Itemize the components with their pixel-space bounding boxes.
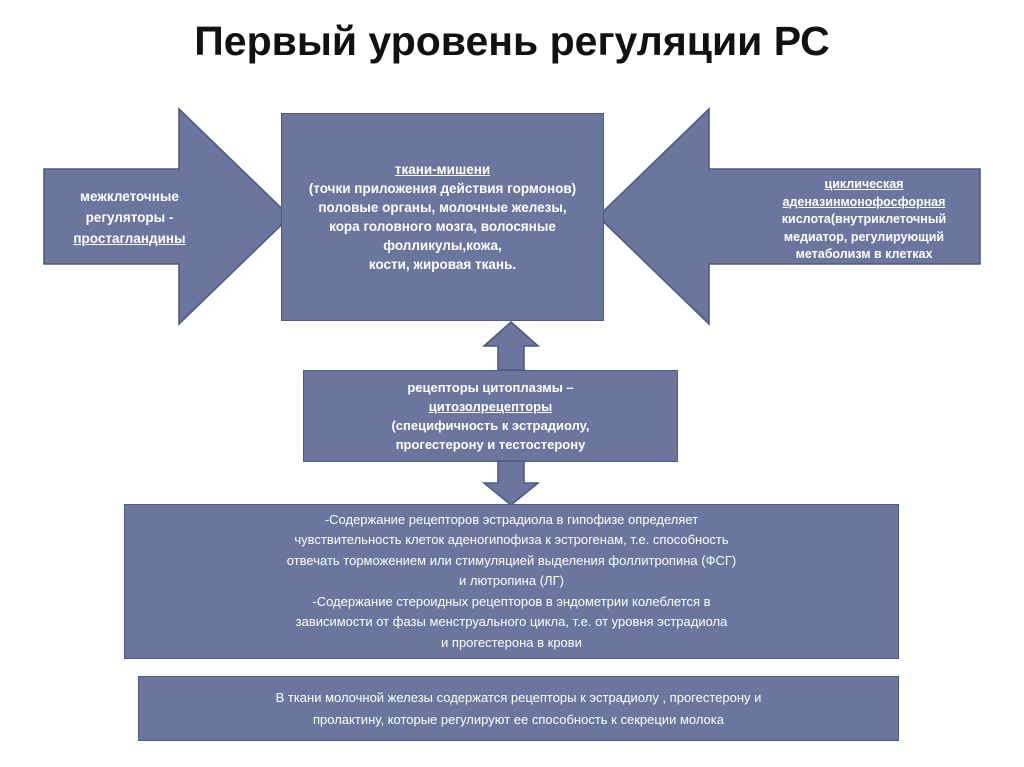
left-arrow-line-1: межклеточные [42,186,217,207]
center-line-6: кости, жировая ткань. [288,255,597,274]
para-line-5: -Содержание стероидных рецепторов в эндо… [131,592,892,613]
up-arrow-icon [481,320,541,372]
cyto-line-4: прогестерону и тестостерону [310,435,671,454]
mammary-gland-box: В ткани молочной железы содержатся рецеп… [138,676,899,741]
cyto-line-2: цитозолрецепторы [310,397,671,416]
center-line-1: ткани-мишени [288,160,597,179]
cytoplasm-receptors-box: рецепторы цитоплазмы – цитозолрецепторы … [303,370,678,462]
para-line-4: и лютропина (ЛГ) [131,571,892,592]
intercellular-regulators-label: межклеточные регуляторы - простагландины [42,186,217,249]
center-line-3: половые органы, молочные железы, [288,198,597,217]
para-line-1: -Содержание рецепторов эстрадиола в гипо… [131,510,892,531]
page-title: Первый уровень регуляции РС [0,18,1024,65]
bottom-line-1: В ткани молочной железы содержатся рецеп… [145,687,892,709]
para-line-3: отвечать торможением или стимуляцией выд… [131,551,892,572]
down-arrow-icon [481,459,541,507]
left-arrow-line-2: регуляторы - [42,207,217,228]
target-tissues-box: ткани-мишени (точки приложения действия … [281,113,604,321]
right-arrow-line-6: тканей-мишеней [745,264,983,282]
right-arrow-line-1: циклическая [745,176,983,194]
para-line-7: и прогестерона в крови [131,633,892,654]
center-line-5: фолликулы,кожа, [288,236,597,255]
receptor-content-box: -Содержание рецепторов эстрадиола в гипо… [124,504,899,659]
right-arrow-line-5: метаболизм в клетках [745,246,983,264]
cyto-line-1: рецепторы цитоплазмы – [310,378,671,397]
right-arrow-line-3: кислота(внутриклеточный [745,211,983,229]
bottom-line-2: пролактину, которые регулируют ее способ… [145,709,892,731]
slide-canvas: Первый уровень регуляции РС межклеточные… [0,0,1024,767]
center-line-4: кора головного мозга, волосяные [288,217,597,236]
right-arrow-line-4: медиатор, регулирующий [745,229,983,247]
left-arrow-line-3: простагландины [42,228,217,249]
right-arrow-line-2: аденазинмонофосфорная [745,194,983,212]
cyto-line-3: (специфичность к эстрадиолу, [310,416,671,435]
para-line-6: зависимости от фазы менструального цикла… [131,612,892,633]
para-line-2: чувствительность клеток аденогипофиза к … [131,530,892,551]
center-line-2: (точки приложения действия гормонов) [288,179,597,198]
cyclic-amp-label: циклическая аденазинмонофосфорная кислот… [745,176,983,281]
